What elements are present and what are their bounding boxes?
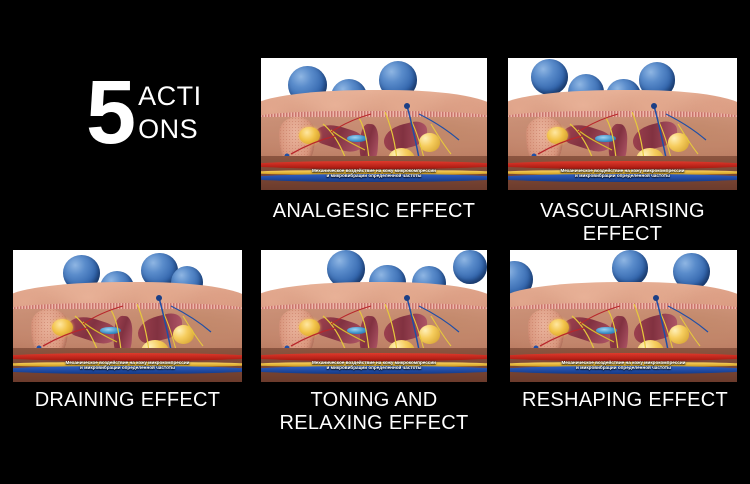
panel-label-draining: DRAINING EFFECT: [10, 389, 245, 412]
major-vein: [261, 174, 487, 182]
major-vein: [508, 174, 737, 182]
panel-label-toning-relaxing: TONING AND RELAXING EFFECT: [261, 389, 487, 435]
major-artery: [508, 161, 737, 169]
diagram-panel-analgesic: Механическое воздействие на кожу микроко…: [261, 58, 487, 190]
panel-label-analgesic: ANALGESIC EFFECT: [261, 200, 487, 223]
skin-cross-section-illustration: Механическое воздействие на кожу микроко…: [261, 58, 487, 190]
major-vein: [261, 366, 487, 374]
skin-cross-section-illustration: Механическое воздействие на кожу микроко…: [508, 58, 737, 190]
major-vein: [510, 366, 737, 374]
skin-cross-section-illustration: Механическое воздействие на кожу микроко…: [261, 250, 487, 382]
actions-count-number: 5: [86, 74, 133, 152]
diagram-panel-draining: Механическое воздействие на кожу микроко…: [13, 250, 242, 382]
diagram-panel-reshaping: Механическое воздействие на кожу микроко…: [510, 250, 737, 382]
skin-cross-section-illustration: Механическое воздействие на кожу микроко…: [13, 250, 242, 382]
diagram-panel-vascularising: Механическое воздействие на кожу микроко…: [508, 58, 737, 190]
major-artery: [13, 353, 242, 361]
panel-label-vascularising: VASCULARISING EFFECT: [500, 200, 745, 246]
major-artery: [261, 353, 487, 361]
major-vein: [13, 366, 242, 374]
panel-label-reshaping: RESHAPING EFFECT: [505, 389, 745, 412]
headline-block: 5 ACTIONS: [86, 74, 220, 152]
skin-cross-section-illustration: Механическое воздействие на кожу микроко…: [510, 250, 737, 382]
major-artery: [261, 161, 487, 169]
major-artery: [510, 353, 737, 361]
poster-canvas: 5 ACTIONS: [0, 0, 750, 484]
diagram-panel-toning-relaxing: Механическое воздействие на кожу микроко…: [261, 250, 487, 382]
actions-word-label: ACTIONS: [138, 80, 220, 146]
